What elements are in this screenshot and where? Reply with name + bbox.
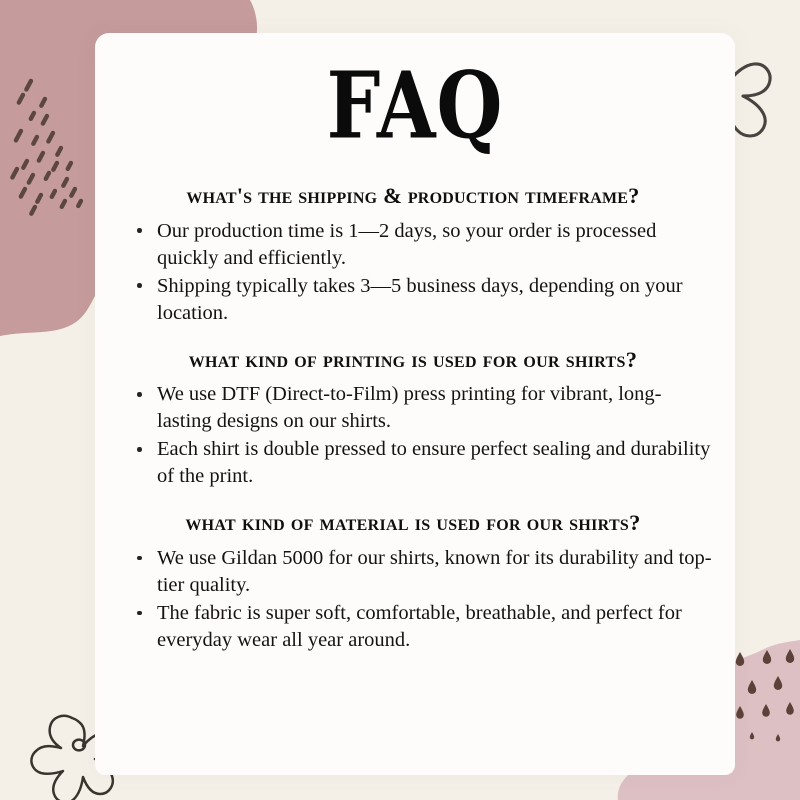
faq-answer-text: We use DTF (Direct-to-Film) press printi… [157, 383, 661, 432]
faq-section: What's the Shipping & Production Timefra… [95, 183, 735, 327]
bullet-icon [137, 556, 142, 561]
faq-card-content: FAQ What's the Shipping & Production Tim… [95, 33, 735, 775]
faq-section: What kind of material is used for our sh… [95, 510, 735, 654]
top-left-dash-marks [9, 78, 83, 217]
faq-answer-text: The fabric is super soft, comfortable, b… [157, 602, 682, 651]
faq-answer-text: Our production time is 1—2 days, so your… [157, 220, 656, 269]
faq-question: What's the Shipping & Production Timefra… [105, 183, 721, 210]
faq-answer-list: Our production time is 1—2 days, so your… [105, 218, 721, 327]
faq-card: FAQ What's the Shipping & Production Tim… [95, 33, 735, 775]
faq-answer-item: We use DTF (Direct-to-Film) press printi… [135, 381, 715, 435]
faq-answer-text: We use Gildan 5000 for our shirts, known… [157, 547, 712, 596]
faq-answer-list: We use Gildan 5000 for our shirts, known… [105, 545, 721, 654]
faq-section-list: What's the Shipping & Production Timefra… [95, 183, 735, 655]
faq-answer-text: Each shirt is double pressed to ensure p… [157, 438, 710, 487]
faq-answer-text: Shipping typically takes 3—5 business da… [157, 275, 683, 324]
faq-answer-item: The fabric is super soft, comfortable, b… [135, 600, 715, 654]
bullet-icon [137, 283, 142, 288]
faq-answer-item: Shipping typically takes 3—5 business da… [135, 273, 715, 327]
faq-poster: FAQ What's the Shipping & Production Tim… [0, 0, 800, 800]
faq-answer-item: Each shirt is double pressed to ensure p… [135, 436, 715, 490]
bullet-icon [137, 228, 142, 233]
faq-question: What kind of material is used for our sh… [105, 510, 721, 537]
page-title: FAQ [105, 61, 726, 153]
faq-answer-list: We use DTF (Direct-to-Film) press printi… [105, 381, 721, 490]
bullet-icon [137, 447, 142, 452]
bullet-icon [137, 392, 142, 397]
faq-answer-item: We use Gildan 5000 for our shirts, known… [135, 545, 715, 599]
faq-section: What kind of printing is used for our sh… [95, 347, 735, 491]
faq-answer-item: Our production time is 1—2 days, so your… [135, 218, 715, 272]
bullet-icon [137, 611, 142, 616]
faq-question: What kind of printing is used for our sh… [105, 347, 721, 374]
